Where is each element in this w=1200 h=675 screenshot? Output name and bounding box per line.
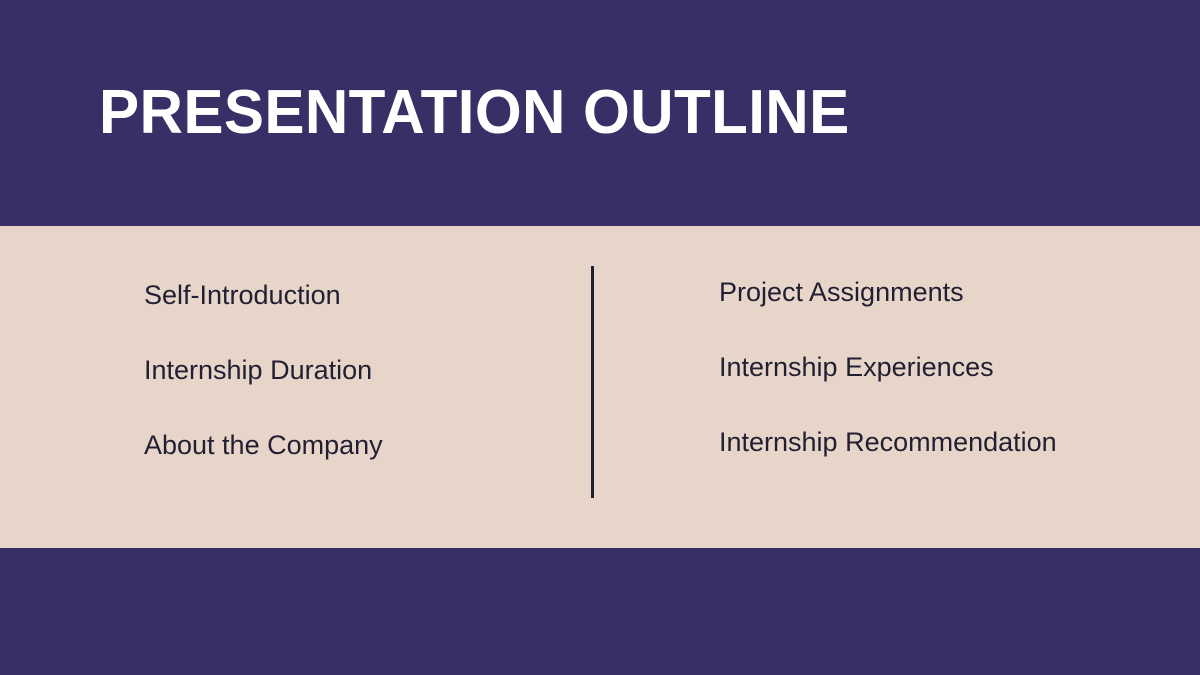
outline-item-about-the-company[interactable]: About the Company [144,432,383,459]
slide-footer-band [0,548,1200,675]
outline-item-internship-experiences[interactable]: Internship Experiences [719,354,1057,381]
column-divider [591,266,594,498]
presentation-slide: PRESENTATION OUTLINE Self-Introduction I… [0,0,1200,675]
page-title: PRESENTATION OUTLINE [99,80,850,145]
slide-header-band: PRESENTATION OUTLINE [0,0,1200,226]
outline-item-project-assignments[interactable]: Project Assignments [719,279,1057,306]
slide-content-band: Self-Introduction Internship Duration Ab… [0,226,1200,548]
outline-list: Self-Introduction Internship Duration Ab… [0,226,1200,548]
outline-item-internship-recommendation[interactable]: Internship Recommendation [719,429,1057,456]
outline-column-right: Project Assignments Internship Experienc… [719,279,1057,456]
outline-item-self-introduction[interactable]: Self-Introduction [144,282,383,309]
outline-column-left: Self-Introduction Internship Duration Ab… [144,282,383,459]
outline-item-internship-duration[interactable]: Internship Duration [144,357,383,384]
